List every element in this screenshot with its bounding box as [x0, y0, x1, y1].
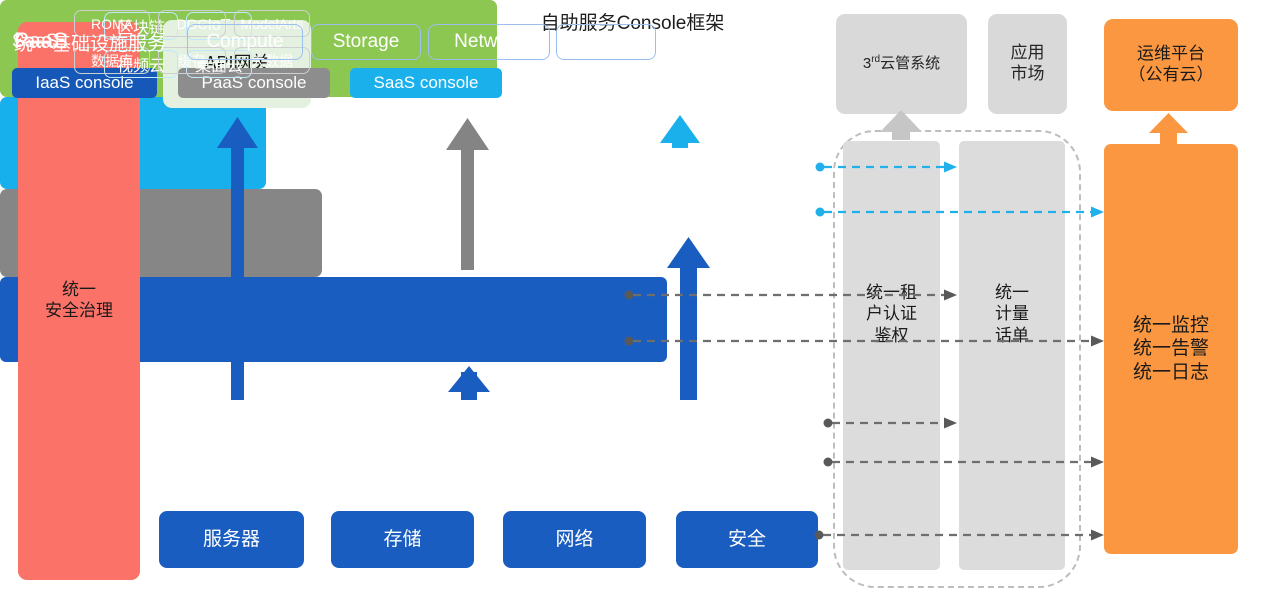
arrow-saas-to-console — [660, 115, 700, 148]
app-market-box: 应用 市场 — [988, 14, 1067, 114]
hardware-label-storage: 存储 — [383, 528, 421, 551]
hardware-box-network[interactable]: 网络 — [503, 511, 646, 568]
app-market-label: 应用 市场 — [1011, 43, 1045, 84]
unified-tenant-auth-column — [843, 141, 940, 570]
third-party-cloud-mgmt-box: 3rd云管系统 — [836, 14, 967, 114]
hardware-label-network: 网络 — [555, 528, 593, 551]
unified-metering-label: 统一 计量 话单 — [959, 282, 1065, 346]
saas-console-label: SaaS console — [374, 73, 479, 93]
infra-chip-cce[interactable]: CCE — [556, 24, 656, 60]
arrow-infra-to-paas — [448, 366, 490, 400]
hardware-box-server[interactable]: 服务器 — [159, 511, 304, 568]
ops-monitoring-panel: 统一监控 统一告警 统一日志 — [1104, 144, 1238, 554]
unified-security-governance-panel: 统一 安全治理 — [18, 22, 140, 580]
architecture-diagram: 统一 安全治理 API网关 自助服务Console框架 IaaS console… — [0, 0, 1265, 605]
hardware-box-security[interactable]: 安全 — [676, 511, 818, 568]
hardware-label-security: 安全 — [728, 528, 766, 551]
unified-security-governance-label: 统一 安全治理 — [45, 280, 113, 321]
infra-chip-compute[interactable]: Compute — [187, 24, 303, 60]
ops-platform-label: 运维平台 （公有云） — [1129, 44, 1214, 85]
infra-chip-storage[interactable]: Storage — [311, 24, 421, 60]
ops-platform-box: 运维平台 （公有云） — [1104, 19, 1238, 111]
hardware-box-storage[interactable]: 存储 — [331, 511, 474, 568]
ops-monitoring-label: 统一监控 统一告警 统一日志 — [1133, 314, 1209, 384]
infra-chip-network[interactable]: Network — [428, 24, 550, 60]
unified-metering-column — [959, 141, 1065, 570]
unified-tenant-auth-label: 统一租 户认证 鉴权 — [843, 282, 940, 346]
unified-infrastructure-label: 统一基础设施服务 — [14, 29, 166, 56]
arrow-ops-body-to-ops-platform — [1149, 113, 1188, 144]
third-party-cloud-mgmt-label: 3rd云管系统 — [863, 54, 940, 73]
arrow-infra-to-saas — [667, 237, 710, 400]
saas-console-chip[interactable]: SaaS console — [350, 68, 502, 98]
hardware-label-server: 服务器 — [203, 528, 260, 551]
arrow-paas-to-console — [446, 118, 489, 270]
